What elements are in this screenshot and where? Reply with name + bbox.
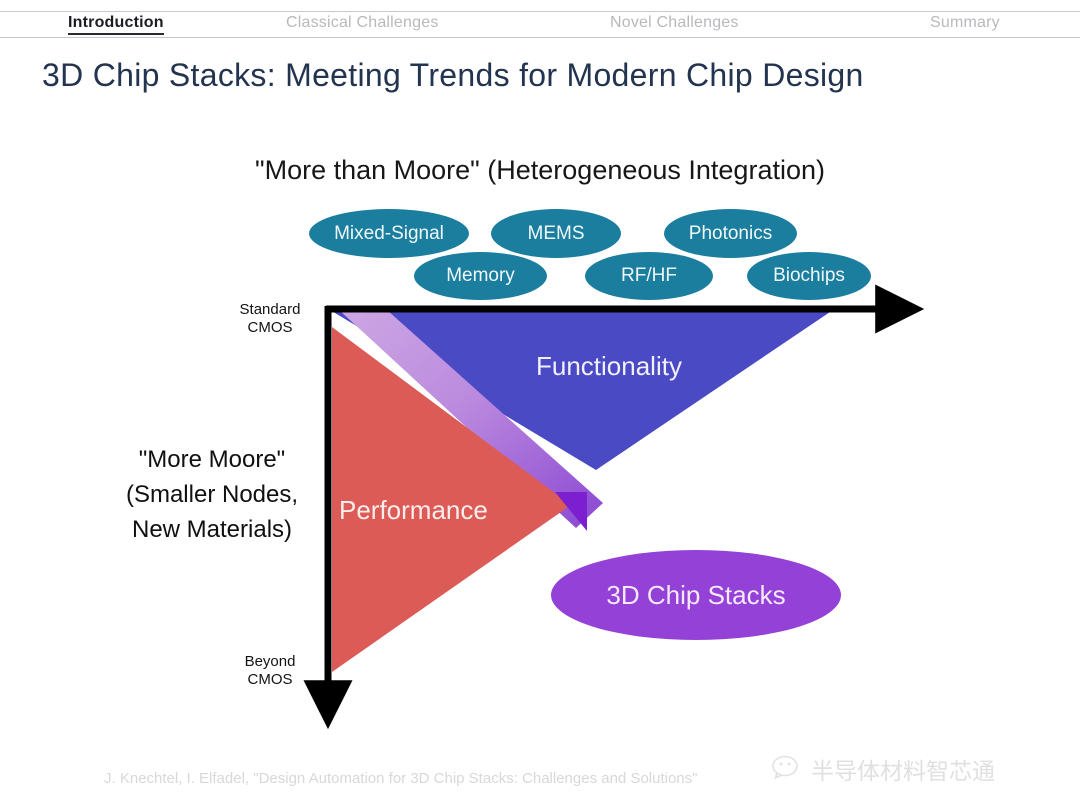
wechat-icon	[772, 755, 806, 783]
more-moore-line1: "More Moore"	[98, 442, 326, 477]
bubble-rf-hf: RF/HF	[585, 252, 713, 300]
bubble-label: Mixed-Signal	[334, 223, 444, 245]
slide-canvas: Introduction Classical Challenges Novel …	[0, 0, 1080, 810]
axis-label-beyond-cmos: Beyond CMOS	[222, 653, 318, 689]
axis-label-standard-cmos: Standard CMOS	[222, 301, 318, 337]
functionality-label: Functionality	[536, 351, 682, 382]
nav-item-novel-challenges[interactable]: Novel Challenges	[610, 14, 739, 32]
axis-label-line2: CMOS	[222, 319, 318, 337]
trend-diagram	[0, 0, 1080, 810]
nav-item-classical-challenges[interactable]: Classical Challenges	[286, 14, 439, 32]
bubble-biochips: Biochips	[747, 252, 871, 300]
bubble-label: MEMS	[528, 223, 585, 245]
bubble-label: Memory	[446, 265, 515, 287]
bubble-label: RF/HF	[621, 265, 677, 287]
bubble-label: Photonics	[689, 223, 772, 245]
nav-item-introduction[interactable]: Introduction	[68, 14, 164, 35]
performance-label: Performance	[339, 495, 488, 526]
bubble-photonics: Photonics	[664, 209, 797, 258]
chip-stacks-ellipse: 3D Chip Stacks	[551, 550, 841, 640]
bubble-label: Biochips	[773, 265, 845, 287]
diagram-heading: "More than Moore" (Heterogeneous Integra…	[0, 155, 1080, 186]
watermark-text: 半导体材料智芯通	[811, 752, 995, 786]
more-moore-label: "More Moore" (Smaller Nodes, New Materia…	[98, 442, 326, 547]
bubble-mems: MEMS	[491, 209, 621, 258]
stacking-point-triangle	[555, 492, 587, 531]
citation-text: J. Knechtel, I. Elfadel, "Design Automat…	[104, 770, 697, 787]
axis-label-line1: Standard	[222, 301, 318, 319]
page-title: 3D Chip Stacks: Meeting Trends for Moder…	[42, 57, 864, 94]
chip-stacks-label: 3D Chip Stacks	[606, 580, 785, 611]
functionality-triangle	[330, 310, 833, 470]
more-moore-line3: New Materials)	[98, 512, 326, 547]
bubble-memory: Memory	[414, 252, 547, 300]
watermark: 半导体材料智芯通	[772, 752, 995, 786]
section-navbar: Introduction Classical Challenges Novel …	[0, 11, 1080, 38]
more-moore-line2: (Smaller Nodes,	[98, 477, 326, 512]
axis-label-line2: CMOS	[222, 671, 318, 689]
nav-item-summary[interactable]: Summary	[930, 14, 1000, 32]
bubble-mixed-signal: Mixed-Signal	[309, 209, 469, 258]
axis-label-line1: Beyond	[222, 653, 318, 671]
